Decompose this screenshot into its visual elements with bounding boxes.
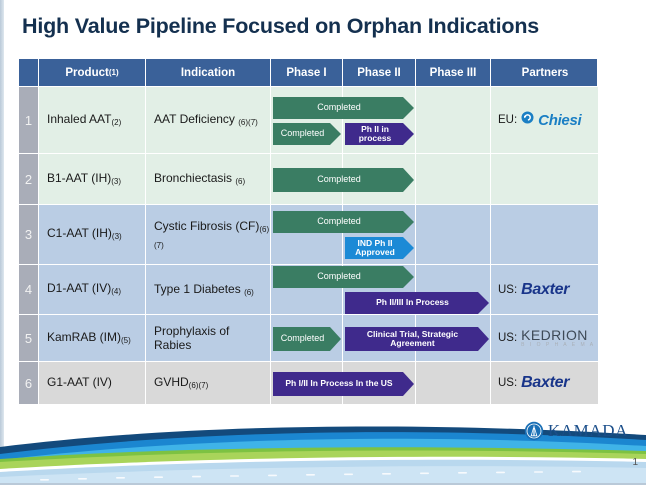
table-row: 3C1-AAT (IH)(3)Cystic Fibrosis (CF)(6)(7…: [18, 205, 598, 265]
table-body: 1Inhaled AAT(2)AAT Deficiency (6)(7)EU:C…: [18, 87, 598, 405]
cell-partner: US:Baxter: [491, 265, 599, 314]
row-index: 5: [19, 315, 39, 361]
partner-block: US:KEDRIONB I O P H A E M A: [491, 328, 595, 348]
indication-name: AAT Deficiency (6)(7): [146, 112, 258, 127]
table-row: 1Inhaled AAT(2)AAT Deficiency (6)(7)EU:C…: [18, 87, 598, 154]
cell-phase-3: [416, 315, 491, 361]
indication-name: Prophylaxis of Rabies: [146, 324, 270, 352]
cell-phase-2: [343, 87, 416, 153]
cell-product: C1-AAT (IH)(3): [39, 205, 146, 264]
cell-product: Inhaled AAT(2): [39, 87, 146, 153]
indication-name: Cystic Fibrosis (CF)(6)(7): [146, 219, 270, 250]
partner-block: US:Baxter: [491, 281, 569, 299]
product-name: C1-AAT (IH)(3): [39, 227, 122, 241]
kamada-emblem-icon: [524, 421, 544, 441]
table-row: 2B1-AAT (IH)(3)Bronchiectasis (6)Complet…: [18, 154, 598, 205]
chiesi-circle-icon: [521, 111, 534, 129]
page-number: 1: [632, 457, 638, 468]
product-name: B1-AAT (IH)(3): [39, 172, 121, 186]
row-index: 4: [19, 265, 39, 314]
cell-indication: Cystic Fibrosis (CF)(6)(7): [146, 205, 271, 264]
kedrion-logo: KEDRIONB I O P H A E M A: [521, 328, 595, 348]
product-name: Inhaled AAT(2): [39, 113, 121, 127]
header-product-note: (1): [109, 68, 119, 77]
header-phase-2: Phase II: [343, 59, 416, 86]
cell-phase-3: [416, 265, 491, 314]
partner-block: EU:Chiesi: [491, 111, 581, 129]
cell-product: D1-AAT (IV)(4): [39, 265, 146, 314]
partner-block: US:Baxter: [491, 374, 569, 392]
kamada-logo: KAMADA: [524, 421, 628, 441]
row-index: 1: [19, 87, 39, 153]
slide-canvas: High Value Pipeline Focused on Orphan In…: [0, 0, 646, 485]
cell-indication: Bronchiectasis (6): [146, 154, 271, 204]
cell-indication: Type 1 Diabetes (6): [146, 265, 271, 314]
cell-phase-1: [271, 205, 343, 264]
row-index: 2: [19, 154, 39, 204]
page-title: High Value Pipeline Focused on Orphan In…: [22, 14, 622, 39]
cell-phase-1: [271, 265, 343, 314]
cell-phase-1: [271, 87, 343, 153]
header-phase-1: Phase I: [271, 59, 343, 86]
indication-name: Bronchiectasis (6): [146, 171, 245, 186]
cell-partner: US:KEDRIONB I O P H A E M A: [491, 315, 599, 361]
cell-phase-2: [343, 315, 416, 361]
product-name: D1-AAT (IV)(4): [39, 282, 121, 296]
header-product: Product(1): [39, 59, 146, 86]
header-product-label: Product: [65, 67, 108, 79]
cell-indication: AAT Deficiency (6)(7): [146, 87, 271, 153]
cell-phase-3: [416, 154, 491, 204]
cell-partner: US:Baxter: [491, 362, 599, 404]
cell-indication: GVHD(6)(7): [146, 362, 271, 404]
cell-product: G1-AAT (IV): [39, 362, 146, 404]
header-phase-3: Phase III: [416, 59, 491, 86]
cell-product: B1-AAT (IH)(3): [39, 154, 146, 204]
cell-product: KamRAB (IM)(5): [39, 315, 146, 361]
table-header-row: Product(1) Indication Phase I Phase II P…: [18, 58, 598, 87]
cell-partner: [491, 154, 599, 204]
cell-phase-3: [416, 87, 491, 153]
baxter-logo: Baxter: [521, 281, 569, 299]
cell-phase-2: [343, 265, 416, 314]
cell-partner: EU:Chiesi: [491, 87, 599, 153]
partner-region-label: US:: [498, 332, 517, 344]
partner-region-label: US:: [498, 284, 517, 296]
pipeline-table: Product(1) Indication Phase I Phase II P…: [18, 58, 598, 405]
table-row: 6G1-AAT (IV)GVHD(6)(7)US:BaxterPh I/II I…: [18, 362, 598, 405]
table-row: 4D1-AAT (IV)(4)Type 1 Diabetes (6)US:Bax…: [18, 265, 598, 315]
product-name: KamRAB (IM)(5): [39, 331, 131, 345]
row-index: 3: [19, 205, 39, 264]
row-index: 6: [19, 362, 39, 404]
cell-indication: Prophylaxis of Rabies: [146, 315, 271, 361]
indication-name: GVHD(6)(7): [146, 375, 208, 390]
baxter-logo: Baxter: [521, 374, 569, 392]
partner-region-label: EU:: [498, 114, 517, 126]
cell-phase-2: [343, 362, 416, 404]
cell-partner: [491, 205, 599, 264]
partner-region-label: US:: [498, 377, 517, 389]
cell-phase-2: [343, 154, 416, 204]
table-row: 5KamRAB (IM)(5)Prophylaxis of RabiesUS:K…: [18, 315, 598, 362]
cell-phase-3: [416, 362, 491, 404]
cell-phase-1: [271, 154, 343, 204]
header-indication: Indication: [146, 59, 271, 86]
cell-phase-2: [343, 205, 416, 264]
chiesi-logo: Chiesi: [538, 112, 581, 129]
cell-phase-3: [416, 205, 491, 264]
header-index: [19, 59, 39, 86]
product-name: G1-AAT (IV): [39, 376, 112, 390]
indication-name: Type 1 Diabetes (6): [146, 282, 254, 297]
cell-phase-1: [271, 362, 343, 404]
cell-phase-1: [271, 315, 343, 361]
header-partners: Partners: [491, 59, 599, 86]
kamada-wordmark: KAMADA: [548, 421, 628, 441]
